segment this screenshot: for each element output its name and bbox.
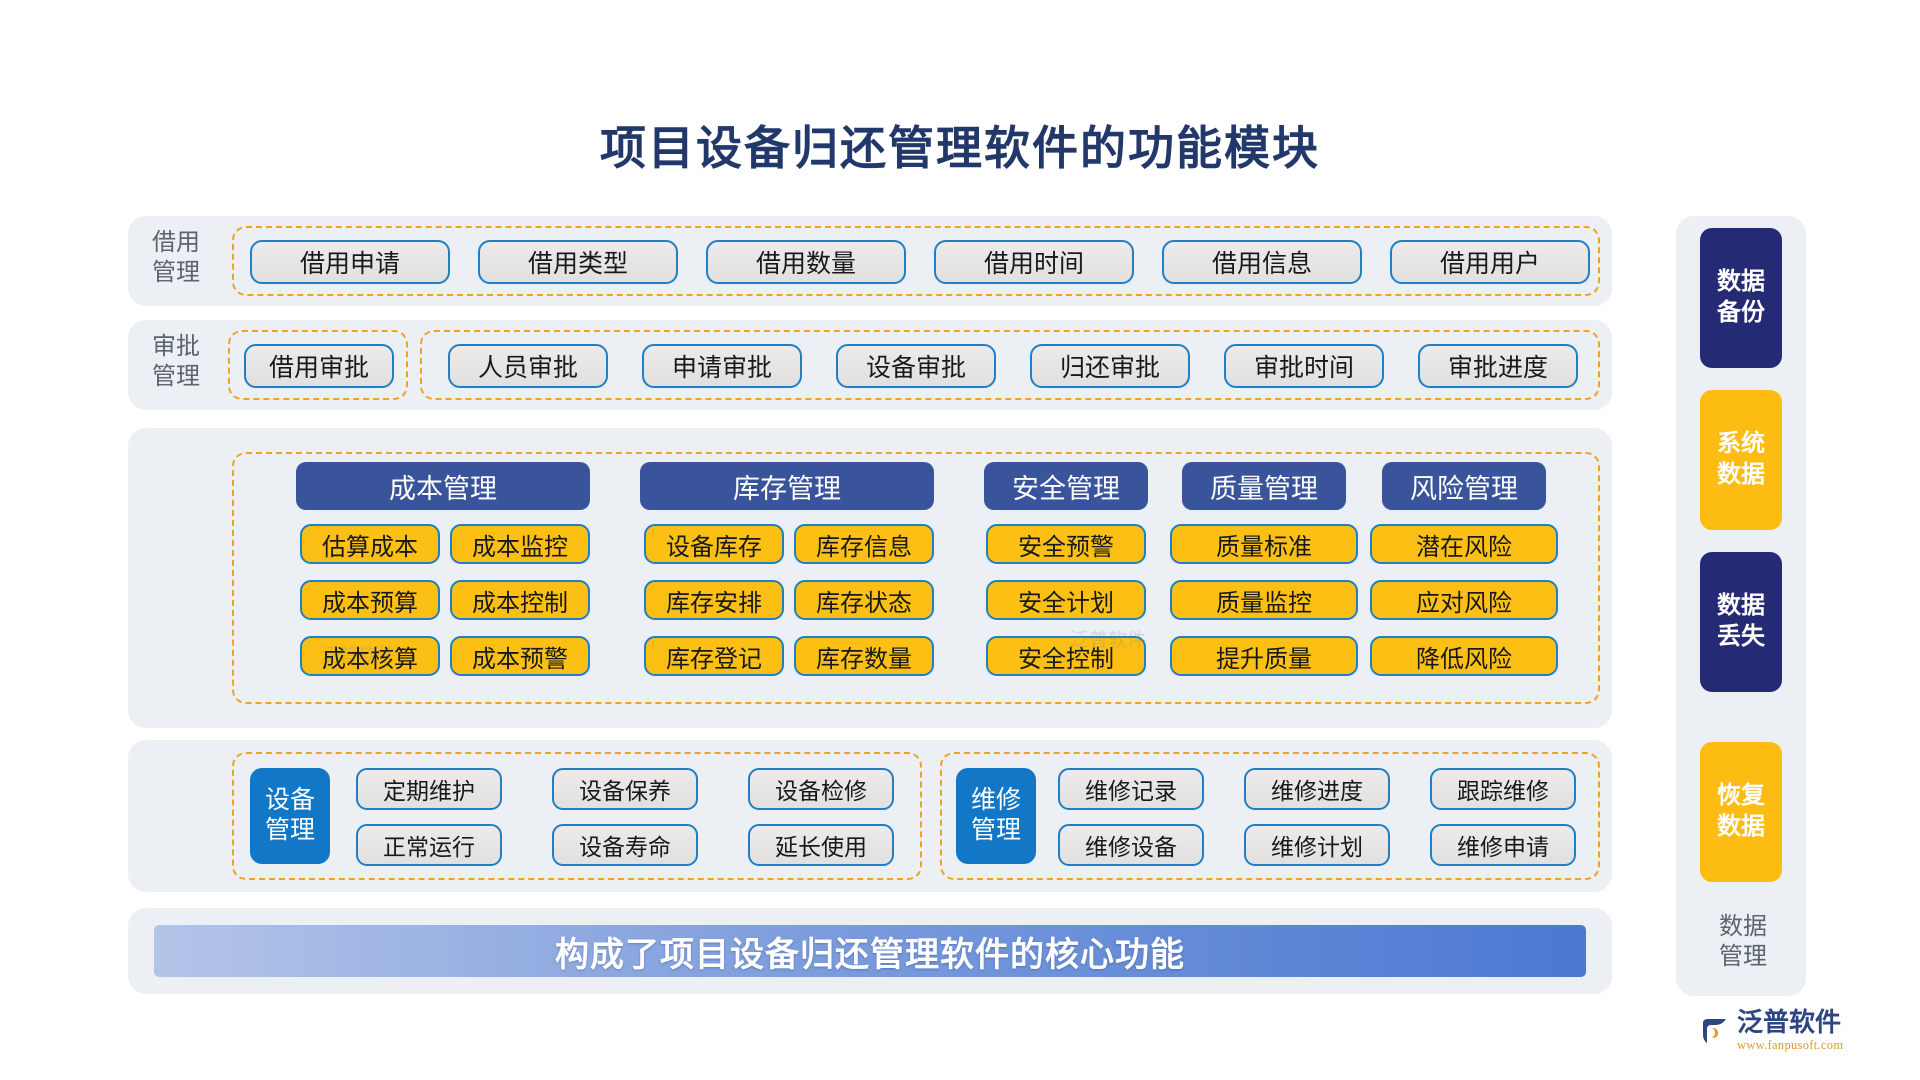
equipment-item-3[interactable]: 正常运行: [356, 824, 502, 866]
equipment-tag[interactable]: 设备 管理: [250, 768, 330, 864]
sidebar-card-2[interactable]: 数据 丢失: [1700, 552, 1782, 692]
repair-tag[interactable]: 维修 管理: [956, 768, 1036, 864]
module-0-item-4[interactable]: 成本核算: [300, 636, 440, 676]
sidebar-card-1-line1: 系统: [1717, 429, 1765, 460]
repair-item-0[interactable]: 维修记录: [1058, 768, 1204, 810]
module-3-item-1[interactable]: 质量监控: [1170, 580, 1358, 620]
approval-item-3[interactable]: 归还审批: [1030, 344, 1190, 388]
module-1-item-3[interactable]: 库存状态: [794, 580, 934, 620]
sidebar-card-2-line2: 丢失: [1717, 622, 1765, 653]
borrow-label-line2: 管理: [140, 258, 212, 288]
module-0-item-5[interactable]: 成本预警: [450, 636, 590, 676]
data-management-label: 数据 管理: [1700, 912, 1786, 972]
repair-item-5[interactable]: 维修申请: [1430, 824, 1576, 866]
borrow-section-label: 借用 管理: [140, 228, 212, 288]
module-0-item-2[interactable]: 成本预算: [300, 580, 440, 620]
module-header-4[interactable]: 风险管理: [1382, 462, 1546, 510]
equipment-item-2[interactable]: 设备检修: [748, 768, 894, 810]
equipment-item-4[interactable]: 设备寿命: [552, 824, 698, 866]
borrow-item-0[interactable]: 借用申请: [250, 240, 450, 284]
module-2-item-2[interactable]: 安全控制: [986, 636, 1146, 676]
equipment-item-1[interactable]: 设备保养: [552, 768, 698, 810]
module-0-item-1[interactable]: 成本监控: [450, 524, 590, 564]
approval-section-label: 审批 管理: [140, 332, 212, 392]
module-header-3[interactable]: 质量管理: [1182, 462, 1346, 510]
data-management-label-line2: 管理: [1700, 942, 1786, 972]
module-1-item-5[interactable]: 库存数量: [794, 636, 934, 676]
equipment-item-0[interactable]: 定期维护: [356, 768, 502, 810]
module-1-item-0[interactable]: 设备库存: [644, 524, 784, 564]
data-management-label-line1: 数据: [1700, 912, 1786, 942]
sidebar-card-0-line1: 数据: [1717, 267, 1765, 298]
repair-item-3[interactable]: 维修设备: [1058, 824, 1204, 866]
module-3-item-2[interactable]: 提升质量: [1170, 636, 1358, 676]
sidebar-card-3-line2: 数据: [1717, 812, 1765, 843]
sidebar-card-1-line2: 数据: [1717, 460, 1765, 491]
sidebar-card-2-line1: 数据: [1717, 591, 1765, 622]
repair-item-2[interactable]: 跟踪维修: [1430, 768, 1576, 810]
borrow-item-5[interactable]: 借用用户: [1390, 240, 1590, 284]
repair-tag-line1: 维修: [971, 786, 1021, 816]
module-1-item-2[interactable]: 库存安排: [644, 580, 784, 620]
module-4-item-0[interactable]: 潜在风险: [1370, 524, 1558, 564]
sidebar-card-3-line1: 恢复: [1717, 781, 1765, 812]
borrow-item-4[interactable]: 借用信息: [1162, 240, 1362, 284]
module-4-item-1[interactable]: 应对风险: [1370, 580, 1558, 620]
borrow-item-2[interactable]: 借用数量: [706, 240, 906, 284]
repair-item-4[interactable]: 维修计划: [1244, 824, 1390, 866]
approval-item-borrow[interactable]: 借用审批: [244, 344, 394, 388]
summary-banner: 构成了项目设备归还管理软件的核心功能: [154, 925, 1586, 977]
brand-name: 泛普软件: [1737, 1010, 1843, 1036]
approval-label-line2: 管理: [140, 362, 212, 392]
module-0-item-3[interactable]: 成本控制: [450, 580, 590, 620]
sidebar-card-1[interactable]: 系统 数据: [1700, 390, 1782, 530]
sidebar-card-3[interactable]: 恢复 数据: [1700, 742, 1782, 882]
repair-tag-line2: 管理: [971, 816, 1021, 846]
approval-item-5[interactable]: 审批进度: [1418, 344, 1578, 388]
equipment-tag-line1: 设备: [265, 786, 315, 816]
module-header-0[interactable]: 成本管理: [296, 462, 590, 510]
brand-url: www.fanpusoft.com: [1737, 1039, 1843, 1052]
sidebar-card-0-line2: 备份: [1717, 298, 1765, 329]
module-2-item-0[interactable]: 安全预警: [986, 524, 1146, 564]
module-4-item-2[interactable]: 降低风险: [1370, 636, 1558, 676]
module-0-item-0[interactable]: 估算成本: [300, 524, 440, 564]
approval-item-2[interactable]: 设备审批: [836, 344, 996, 388]
equipment-item-5[interactable]: 延长使用: [748, 824, 894, 866]
borrow-item-3[interactable]: 借用时间: [934, 240, 1134, 284]
module-2-item-1[interactable]: 安全计划: [986, 580, 1146, 620]
module-3-item-0[interactable]: 质量标准: [1170, 524, 1358, 564]
approval-item-1[interactable]: 申请审批: [642, 344, 802, 388]
approval-label-line1: 审批: [140, 332, 212, 362]
page-title: 项目设备归还管理软件的功能模块: [0, 112, 1920, 178]
module-1-item-1[interactable]: 库存信息: [794, 524, 934, 564]
approval-item-0[interactable]: 人员审批: [448, 344, 608, 388]
module-1-item-4[interactable]: 库存登记: [644, 636, 784, 676]
sidebar-card-0[interactable]: 数据 备份: [1700, 228, 1782, 368]
module-header-1[interactable]: 库存管理: [640, 462, 934, 510]
repair-item-1[interactable]: 维修进度: [1244, 768, 1390, 810]
equipment-tag-line2: 管理: [265, 816, 315, 846]
borrow-label-line1: 借用: [140, 228, 212, 258]
brand-logo: 泛普软件 www.fanpusoft.com: [1700, 1010, 1843, 1052]
approval-item-4[interactable]: 审批时间: [1224, 344, 1384, 388]
fanpu-logo-icon: [1700, 1016, 1730, 1046]
infographic-page: 项目设备归还管理软件的功能模块 借用 管理 借用申请 借用类型 借用数量 借用时…: [0, 0, 1920, 1080]
module-header-2[interactable]: 安全管理: [984, 462, 1148, 510]
borrow-item-1[interactable]: 借用类型: [478, 240, 678, 284]
